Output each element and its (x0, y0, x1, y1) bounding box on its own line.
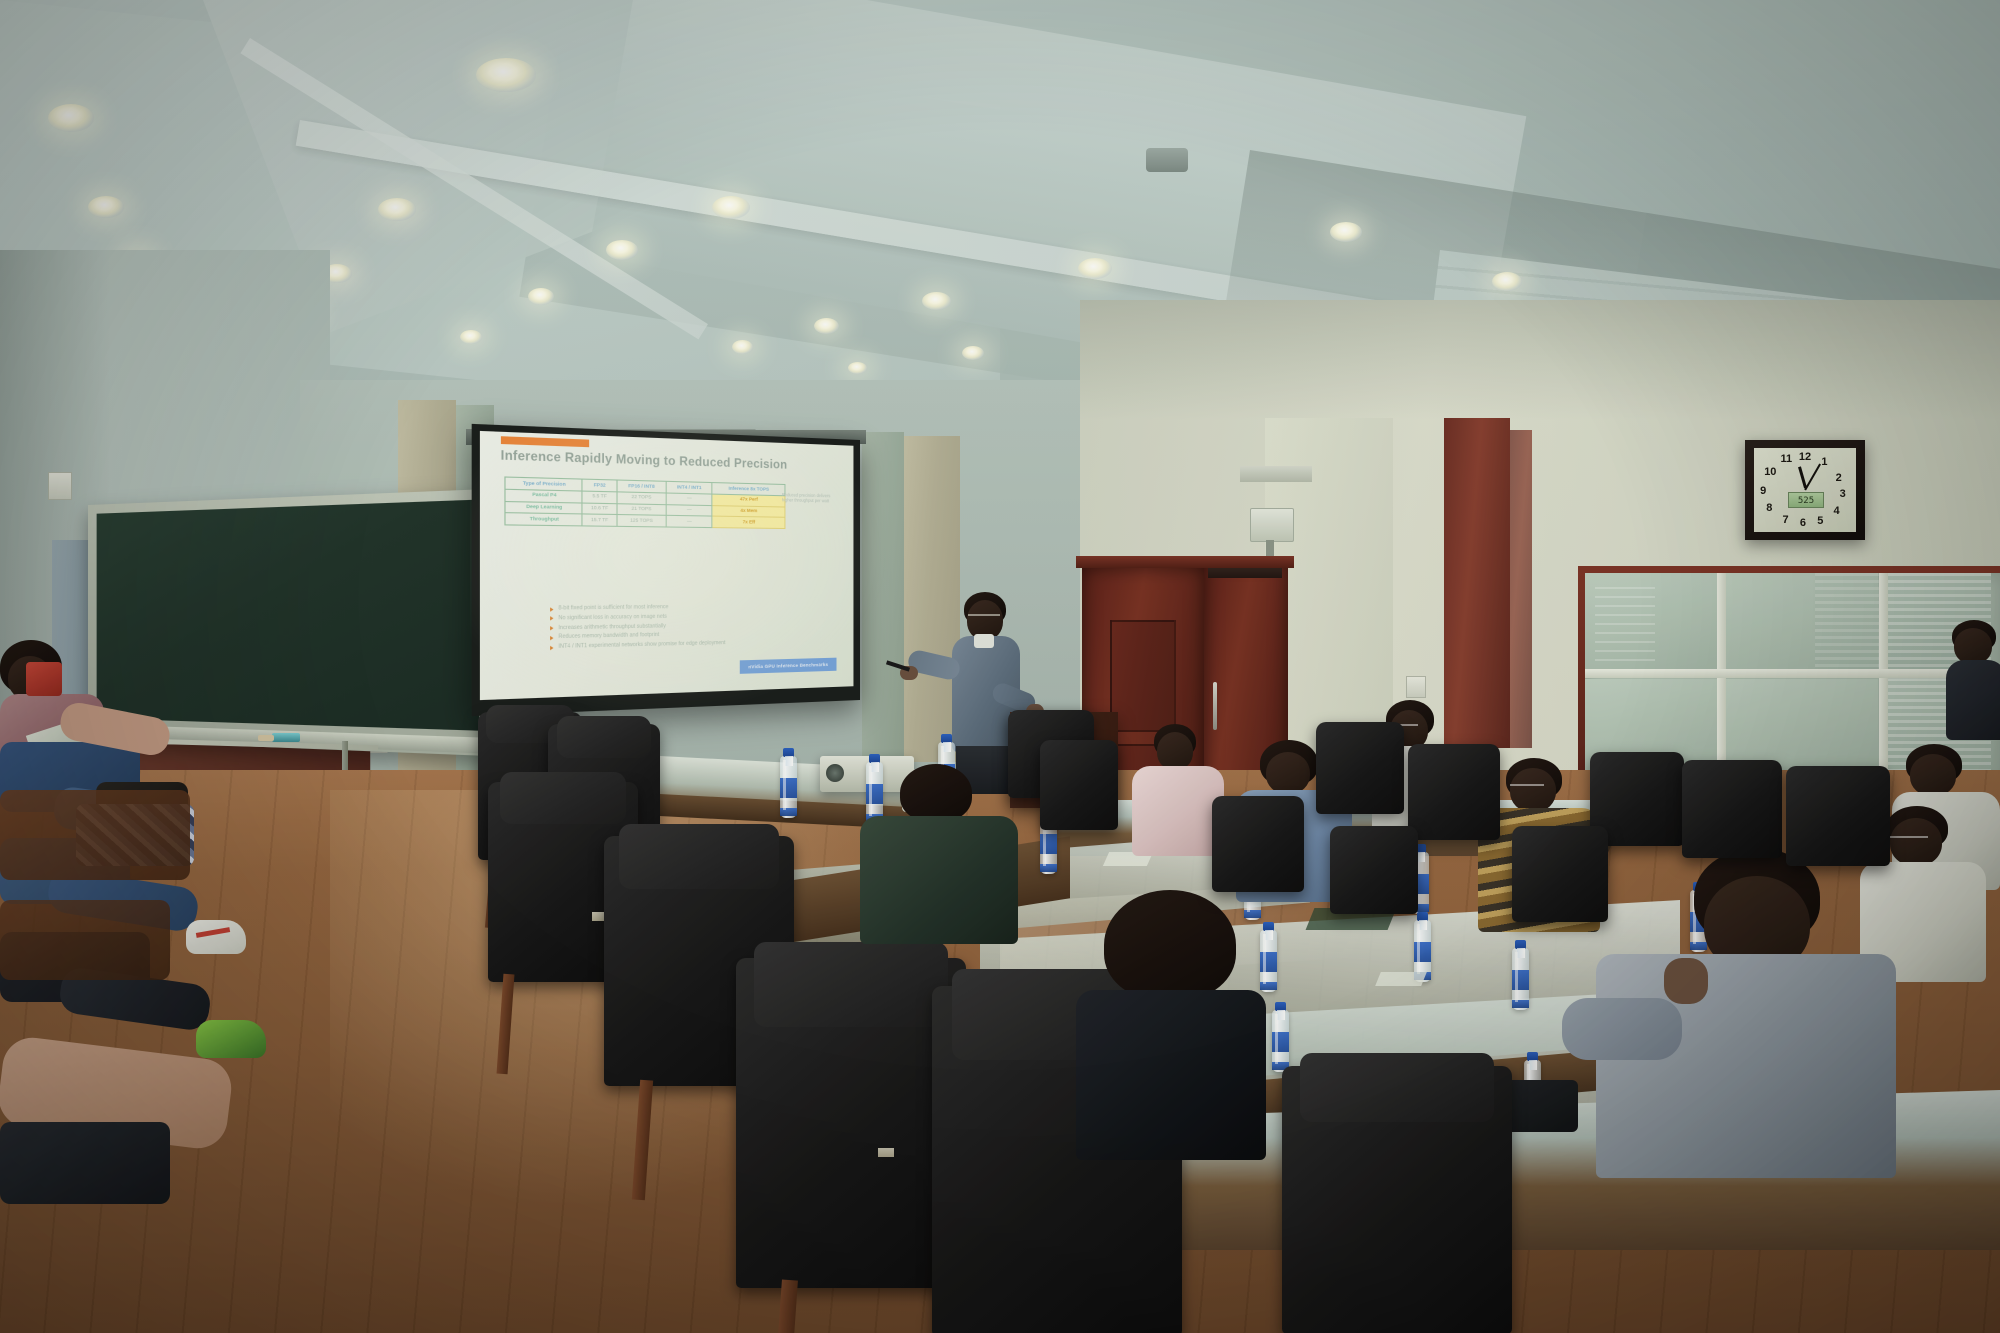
wall-outlet-right[interactable] (1406, 676, 1426, 698)
red-object-on-wall (26, 662, 62, 696)
audience-glasses-icon (1510, 784, 1544, 793)
student-shorts (0, 1122, 170, 1204)
projection-screen[interactable]: Inference Rapidly Moving to Reduced Prec… (472, 424, 860, 716)
slide-bullet-list: 8-bit fixed point is sufficient for most… (505, 601, 854, 653)
chair-label (878, 1148, 894, 1157)
audience-torso (1076, 990, 1266, 1160)
student-arm (57, 700, 172, 758)
audience-member-green-shirt (852, 764, 1032, 944)
projector-lens-icon (826, 764, 844, 782)
slide-table-cell: 15.7 TF (582, 514, 616, 526)
ceiling-light (922, 292, 951, 310)
conference-chair[interactable] (1040, 740, 1118, 830)
ceiling-light (1078, 258, 1112, 279)
door-panel (1110, 620, 1176, 732)
clock-numeral: 12 (1799, 451, 1811, 463)
audience-torso (1596, 954, 1896, 1178)
eraser[interactable] (272, 733, 300, 742)
clock-numeral: 9 (1760, 485, 1766, 497)
ceiling-light (1330, 222, 1362, 242)
chair-headrest (500, 772, 626, 824)
wall-speaker (1250, 508, 1294, 542)
door-handle[interactable] (1213, 682, 1217, 730)
slide-table-header-cell: FP32 (582, 479, 616, 492)
slide-table-cell: — (666, 516, 712, 528)
audience-torso (1946, 660, 2000, 740)
ceiling-light (732, 340, 753, 354)
conference-chair[interactable] (1408, 744, 1500, 840)
ceiling-light (476, 58, 536, 92)
slide-accent-bar (501, 436, 590, 447)
clock-minute-hand (1804, 463, 1821, 490)
audience-member-right-edge (1946, 620, 2000, 740)
slide-table-row-label: Throughput (505, 513, 582, 526)
window-pane (1726, 679, 1878, 771)
ceiling-light (378, 198, 416, 221)
ceiling-light (88, 196, 124, 218)
chalkboard-surface (97, 500, 479, 731)
conference-chair[interactable] (1212, 796, 1304, 892)
conference-chair[interactable] (1316, 722, 1404, 814)
clock-numeral: 4 (1834, 505, 1840, 517)
window-reflection-notes (1595, 587, 1655, 665)
audience-glasses-icon (1890, 836, 1928, 846)
ceiling-light (848, 362, 867, 374)
audience-head (1910, 754, 1956, 796)
conference-chair-foreground[interactable] (1282, 1066, 1512, 1333)
conference-chair[interactable] (1330, 826, 1418, 914)
slide-side-note: Reduced precision delivers higher throug… (782, 492, 837, 504)
water-bottle[interactable] (780, 756, 797, 818)
audience-hair (1104, 890, 1236, 1000)
clock-lcd-text: 525 (1789, 493, 1824, 509)
wooden-bench-chair-left-2[interactable] (0, 900, 170, 980)
clock-numeral: 5 (1817, 515, 1823, 527)
right-wall-shadow (1080, 300, 2000, 420)
pilaster-green-right (862, 432, 904, 762)
column-red-center (1444, 418, 1510, 748)
conference-chair[interactable] (1682, 760, 1782, 858)
conference-chair[interactable] (1512, 826, 1608, 922)
marker[interactable] (258, 735, 274, 741)
ceiling-light (712, 196, 750, 219)
conference-room-scene: Inference Rapidly Moving to Reduced Prec… (0, 0, 2000, 1333)
slide-content: Inference Rapidly Moving to Reduced Prec… (480, 431, 854, 700)
wall-vent (1240, 466, 1312, 482)
chair-headrest (619, 824, 779, 889)
clock-numeral: 6 (1800, 517, 1806, 529)
window-mullion (1585, 669, 1991, 678)
chair-headrest (754, 942, 947, 1028)
audience-torso (1132, 766, 1224, 856)
audience-member-foreground-right (1596, 848, 1896, 1178)
clock-numeral: 7 (1783, 514, 1789, 526)
audience-head (1954, 628, 1992, 664)
ceiling-light (460, 330, 482, 344)
door-frame-top (1076, 556, 1294, 568)
slide-table-cell: 10.6 TF (582, 503, 616, 515)
paper-document[interactable] (1375, 972, 1427, 986)
clock-numeral: 10 (1764, 466, 1776, 478)
clock-lcd-display: 525 (1788, 492, 1825, 508)
column-red-right (1510, 430, 1532, 748)
ceiling-light (962, 346, 984, 360)
wall-clock: 12 1 2 3 4 5 6 7 8 9 10 11 525 (1745, 440, 1865, 540)
student-foreground-left (0, 1038, 300, 1333)
ceiling-vent (1146, 148, 1188, 172)
wooden-bench-chair-left[interactable] (0, 790, 190, 880)
clock-numeral: 2 (1836, 472, 1842, 484)
audience-hair (900, 764, 972, 822)
presenter-glasses-icon (968, 614, 1000, 622)
slide-table: Type of Precision FP32 FP16 / INT8 INT4 … (505, 476, 785, 529)
conference-chair[interactable] (1786, 766, 1890, 866)
water-bottle[interactable] (1272, 1010, 1289, 1072)
ceiling-light (1492, 272, 1522, 291)
slide-table-cell: — (666, 493, 712, 505)
clock-numeral: 3 (1840, 488, 1846, 500)
audience-hand (1664, 958, 1708, 1004)
ceiling-light (814, 318, 839, 334)
audience-member-foreground-center (1076, 890, 1266, 1150)
presenter-collar (974, 634, 994, 648)
audience-head (1157, 732, 1193, 770)
water-bottle[interactable] (1512, 948, 1529, 1010)
chair-headrest (557, 716, 651, 759)
speaker-bracket (1266, 540, 1274, 556)
chair-headrest (1300, 1053, 1493, 1123)
wall-switch-left[interactable] (48, 472, 72, 500)
clock-numeral: 11 (1781, 453, 1793, 465)
clock-numeral: 8 (1766, 502, 1772, 514)
slide-title: Inference Rapidly Moving to Reduced Prec… (501, 450, 844, 474)
audience-torso (860, 816, 1018, 944)
slide-table-cell: 21 TOPS (617, 503, 666, 515)
window-blinds (1815, 573, 1879, 669)
slide-table-cell: 5.5 TF (582, 491, 616, 503)
clock-face: 12 1 2 3 4 5 6 7 8 9 10 11 525 (1754, 448, 1856, 532)
slide-table-highlight-cell: 7x Eff (712, 517, 785, 529)
slide-table-cell: 125 TOPS (617, 515, 666, 527)
audience-arm (1562, 998, 1682, 1060)
slide-cta-button: nVidia GPU Inference Benchmarks (739, 658, 836, 674)
slide-table-cell: — (666, 504, 712, 516)
ceiling-light (606, 240, 638, 260)
audience-head (1266, 752, 1310, 794)
slide-table-cell: 22 TOPS (617, 492, 666, 505)
ceiling-light (48, 104, 94, 132)
clock-numeral: 1 (1821, 456, 1827, 468)
ceiling-light (528, 288, 554, 305)
